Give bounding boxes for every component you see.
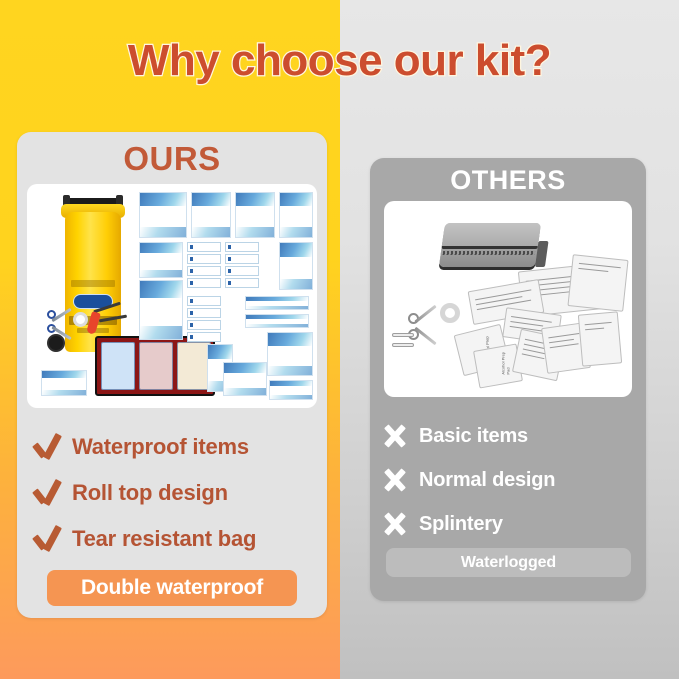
others-product-photo: Alcohol Prep Pad Alcohol Prep Pad [384, 201, 632, 397]
others-feature-list: Basic items Normal design Splintery [370, 414, 646, 546]
comparison-infographic: Why choose our kit? OURS [0, 0, 679, 679]
supply-packet [245, 296, 309, 310]
others-feature-label: Basic items [419, 425, 528, 448]
others-card: OTHERS [370, 158, 646, 601]
compass-icon [47, 334, 65, 352]
dry-bag-brand-text [71, 280, 115, 287]
supply-packet [191, 192, 231, 238]
ours-feature-list: Waterproof items Roll top design Tear re… [17, 424, 327, 562]
supply-packet [279, 242, 313, 290]
safety-pin-icon [392, 343, 414, 347]
supply-packet [567, 254, 628, 312]
bandage-strip [187, 308, 221, 318]
page-title: Why choose our kit? [0, 36, 679, 86]
supply-packet [235, 192, 275, 238]
supply-packet [41, 370, 87, 396]
check-icon [33, 432, 63, 462]
grey-pouch-zipper-icon [443, 251, 536, 255]
bandage-strip [187, 254, 221, 264]
tape-roll-icon [73, 312, 88, 327]
bandage-strip [187, 266, 221, 276]
others-feature-item: Basic items [382, 414, 646, 458]
bandage-strip [187, 320, 221, 330]
ours-product-photo [27, 184, 317, 408]
supply-packet [279, 192, 313, 238]
others-feature-item: Splintery [382, 502, 646, 546]
ours-card-title: OURS [17, 140, 327, 178]
ours-feature-label: Waterproof items [72, 434, 249, 460]
grey-pouch-flap-icon [441, 223, 541, 249]
supply-packet [578, 311, 622, 366]
ours-feature-label: Tear resistant bag [72, 526, 256, 552]
bandage-strip [187, 296, 221, 306]
supply-packet [223, 362, 267, 396]
bandage-strip [187, 278, 221, 288]
supply-packet [139, 192, 187, 238]
x-icon [382, 467, 408, 493]
bandage-strip [187, 242, 221, 252]
supply-packet [139, 280, 183, 340]
red-organizer-pouch-icon [95, 336, 215, 396]
others-card-title: OTHERS [370, 165, 646, 196]
supply-packet [245, 314, 309, 328]
bandage-strip [225, 254, 259, 264]
others-feature-label: Splintery [419, 513, 503, 536]
ours-feature-label: Roll top design [72, 480, 228, 506]
bandage-strip [225, 242, 259, 252]
grey-pouch-zip-tab-icon [535, 241, 549, 267]
bandage-strip [225, 266, 259, 276]
ours-feature-item: Tear resistant bag [33, 516, 327, 562]
others-feature-label: Normal design [419, 469, 555, 492]
bandage-strip [187, 332, 221, 342]
bandage-strip [225, 278, 259, 288]
ours-card: OURS [17, 132, 327, 618]
ours-feature-item: Roll top design [33, 470, 327, 516]
check-icon [33, 478, 63, 508]
supply-packet [267, 332, 313, 376]
others-feature-item: Normal design [382, 458, 646, 502]
x-icon [382, 511, 408, 537]
supply-packet [139, 242, 183, 278]
ours-feature-item: Waterproof items [33, 424, 327, 470]
check-icon [33, 524, 63, 554]
tape-roll-icon [440, 303, 460, 323]
ours-highlight-pill[interactable]: Double waterproof [47, 570, 297, 606]
x-icon [382, 423, 408, 449]
others-highlight-pill: Waterlogged [386, 548, 631, 577]
safety-pin-icon [392, 333, 414, 337]
grey-pouch-icon [439, 223, 541, 267]
supply-packet [269, 380, 313, 400]
